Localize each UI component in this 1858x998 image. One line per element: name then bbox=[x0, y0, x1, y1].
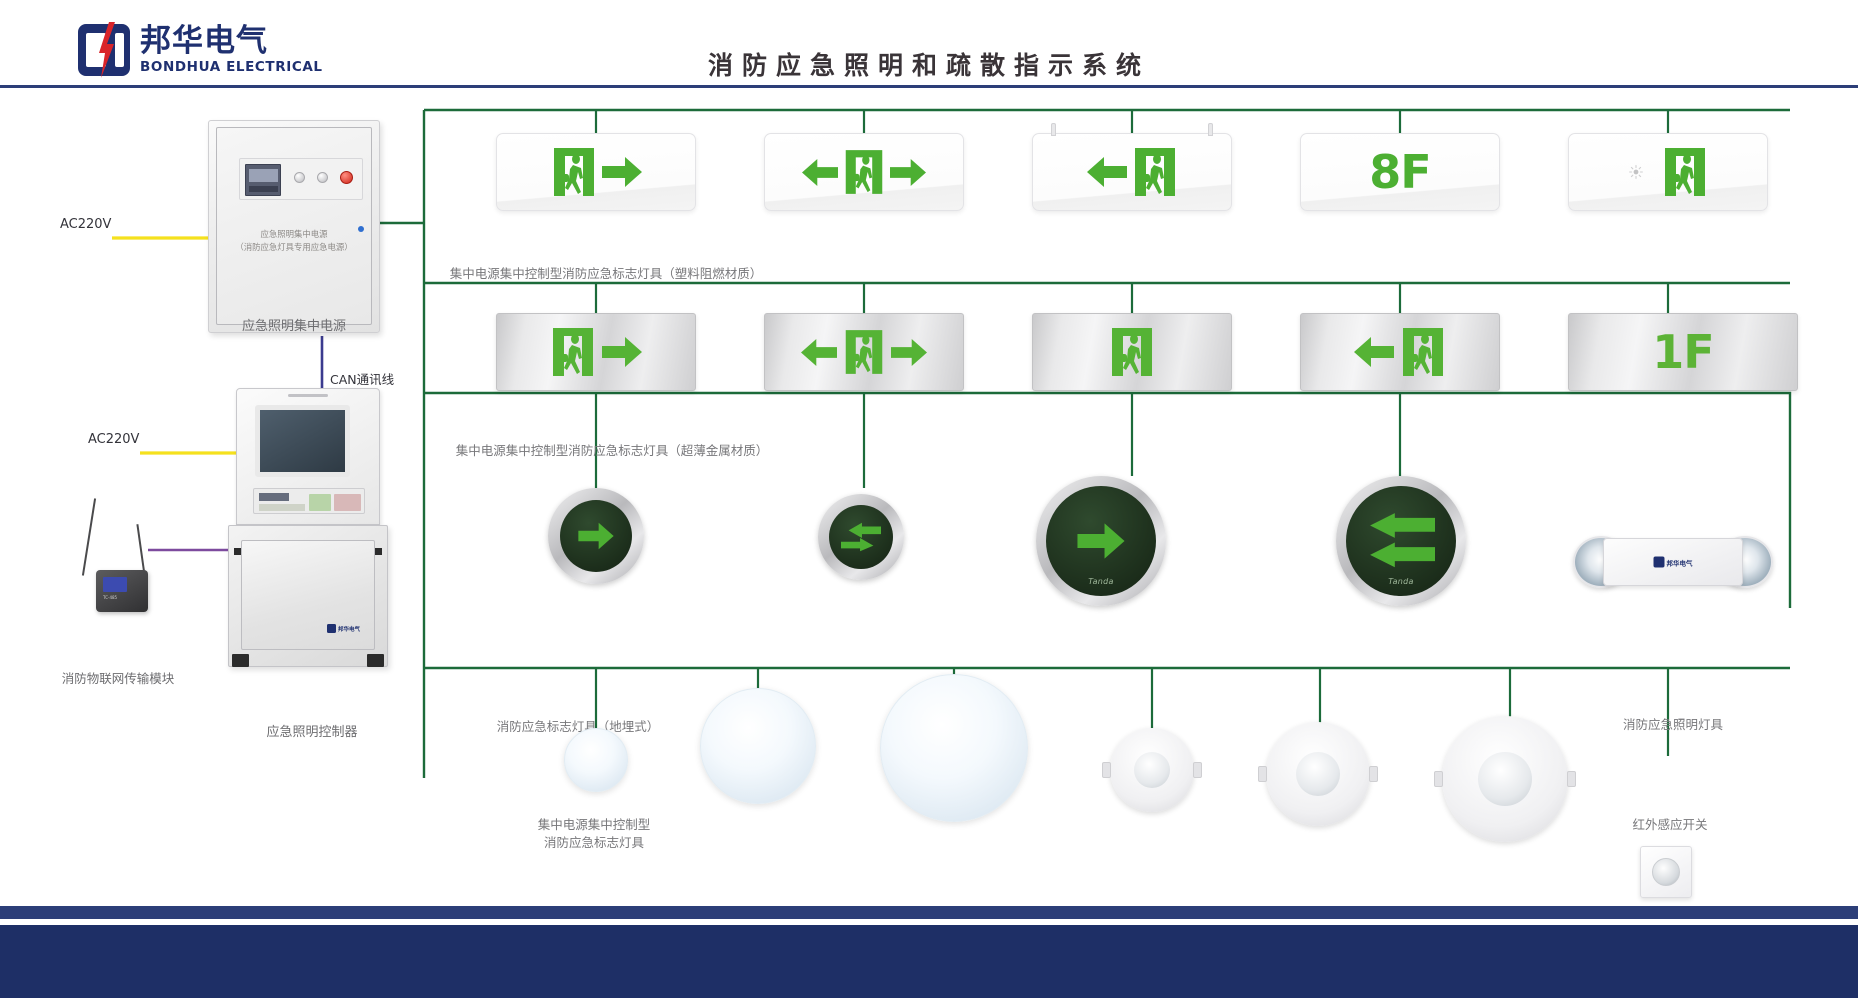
double-left-arrow-icon bbox=[1367, 513, 1435, 569]
antenna-icon bbox=[82, 498, 96, 575]
medium-dome-lamp[interactable] bbox=[700, 688, 816, 804]
running-man-exit-icon bbox=[550, 326, 596, 378]
running-man-exit-icon bbox=[843, 148, 885, 196]
metal-floor-indicator-sign-1f[interactable]: 1F bbox=[1568, 313, 1798, 391]
controller-display-screen[interactable] bbox=[255, 405, 350, 477]
emergency-lighting-central-power-cabinet[interactable]: 应急照明集中电源 （消防应急灯具专用应急电源） bbox=[208, 120, 380, 333]
fixture-brand-label: Tanda bbox=[1346, 577, 1456, 586]
right-arrow-icon bbox=[602, 335, 642, 369]
exit-sign-left-arrow-running-man[interactable] bbox=[1032, 133, 1232, 211]
plastic-sign-row-caption: 集中电源集中控制型消防应急标志灯具（塑料阻燃材质） bbox=[450, 265, 763, 283]
emergency-lighting-controller[interactable]: 邦华电气 bbox=[228, 388, 388, 681]
infrared-eye-icon bbox=[1652, 858, 1680, 886]
controller-logo-text: 邦华电气 bbox=[338, 625, 360, 633]
metal-sign-row-caption: 集中电源集中控制型消防应急标志灯具（超薄金属材质） bbox=[456, 442, 769, 460]
can-bus-label: CAN通讯线 bbox=[330, 371, 394, 389]
exit-sign-left-arrow-running-man-right-arrow[interactable] bbox=[764, 133, 964, 211]
footer-bar-bottom bbox=[0, 925, 1858, 998]
cabinet-lcd-display bbox=[245, 164, 281, 196]
ground-buried-light-right-arrow[interactable] bbox=[548, 488, 644, 584]
controller-keypad[interactable] bbox=[253, 488, 365, 514]
iot-module-caption: 消防物联网传输模块 bbox=[62, 670, 175, 688]
ground-buried-light-bidirectional[interactable] bbox=[818, 494, 904, 580]
ceiling-row-caption-line2: 消防应急标志灯具 bbox=[538, 834, 651, 852]
left-arrow-icon bbox=[1087, 155, 1127, 189]
ceiling-row-caption-line1: 集中电源集中控制型 bbox=[538, 816, 651, 834]
page-header: 邦华电气 BONDHUA ELECTRICAL 消防应急照明和疏散指示系统 bbox=[0, 0, 1858, 88]
medium-downlight[interactable] bbox=[1266, 722, 1370, 826]
running-man-exit-icon bbox=[843, 328, 885, 376]
small-ceiling-lamp[interactable] bbox=[564, 728, 628, 792]
metal-exit-sign-left-arrow-running-man[interactable] bbox=[1300, 313, 1500, 391]
iot-module-display bbox=[103, 577, 127, 592]
ceiling-sign-light-right-arrow[interactable]: Tanda bbox=[1036, 476, 1166, 606]
diagram-stage: AC220V AC220V CAN通讯线 应急照明集中电源 （消防应急灯具专用应… bbox=[0, 88, 1858, 906]
right-arrow-icon bbox=[891, 337, 927, 368]
cabinet-face-line2: （消防应急灯具专用应急电源） bbox=[217, 241, 371, 254]
running-man-exit-icon bbox=[551, 146, 597, 198]
footer-bar-top bbox=[0, 906, 1858, 919]
running-man-exit-icon bbox=[1662, 146, 1708, 198]
controller-door[interactable]: 邦华电气 bbox=[241, 540, 375, 650]
floor-indicator-sign-8f[interactable]: 8F bbox=[1300, 133, 1500, 211]
left-arrow-icon bbox=[1354, 335, 1394, 369]
cabinet-knob-2[interactable] bbox=[317, 172, 328, 183]
left-arrow-icon bbox=[802, 157, 838, 188]
mount-ear-left-icon bbox=[1051, 123, 1056, 136]
exit-sign-running-man-right-arrow[interactable] bbox=[496, 133, 696, 211]
iot-module-text: TC-485 bbox=[103, 595, 117, 600]
cabinet-emergency-button[interactable] bbox=[340, 171, 353, 184]
cabinet-face-line1: 应急照明集中电源 bbox=[217, 228, 371, 241]
right-arrow-icon bbox=[575, 521, 617, 551]
controller-upper-housing bbox=[236, 388, 380, 525]
right-arrow-icon bbox=[602, 155, 642, 189]
twin-light-caption: 消防应急照明灯具 bbox=[1623, 716, 1723, 734]
sensor-switch-caption: 红外感应开关 bbox=[1632, 816, 1707, 834]
left-arrow-icon bbox=[801, 337, 837, 368]
ac220v-label-cabinet: AC220V bbox=[60, 216, 111, 235]
sensor-icon bbox=[1629, 165, 1643, 179]
metal-exit-sign-running-man-right-arrow[interactable] bbox=[496, 313, 696, 391]
right-arrow-icon bbox=[890, 157, 926, 188]
ceiling-row-caption: 集中电源集中控制型 消防应急标志灯具 bbox=[538, 816, 651, 852]
ac220v-label-controller: AC220V bbox=[88, 431, 139, 450]
running-man-exit-icon bbox=[1400, 326, 1446, 378]
cabinet-knob-1[interactable] bbox=[294, 172, 305, 183]
controller-caption: 应急照明控制器 bbox=[266, 724, 357, 743]
controller-cabinet-body: 邦华电气 bbox=[228, 525, 388, 667]
infrared-sensor-switch[interactable] bbox=[1640, 846, 1692, 898]
large-downlight[interactable] bbox=[1442, 716, 1568, 842]
cabinet-face-text: 应急照明集中电源 （消防应急灯具专用应急电源） bbox=[217, 228, 371, 255]
running-man-exit-icon bbox=[1109, 326, 1155, 378]
metal-exit-sign-running-man[interactable] bbox=[1032, 313, 1232, 391]
right-arrow-icon bbox=[1065, 521, 1137, 561]
bidirectional-arrow-icon bbox=[841, 522, 881, 552]
fire-iot-transmission-module[interactable]: TC-485 bbox=[80, 498, 158, 618]
large-dome-lamp[interactable] bbox=[880, 674, 1028, 822]
exit-sign-sensor-running-man[interactable] bbox=[1568, 133, 1768, 211]
antenna-secondary-icon bbox=[136, 524, 145, 576]
running-man-exit-icon bbox=[1132, 146, 1178, 198]
small-downlight[interactable] bbox=[1110, 728, 1194, 812]
cabinet-status-led bbox=[358, 226, 364, 232]
power-cabinet-caption: 应急照明集中电源 bbox=[242, 318, 346, 337]
ceiling-sign-light-left-arrows[interactable]: Tanda bbox=[1336, 476, 1466, 606]
floor-number-label: 1F bbox=[1652, 325, 1713, 379]
metal-exit-sign-left-arrow-running-man-right-arrow[interactable] bbox=[764, 313, 964, 391]
fixture-brand-label: Tanda bbox=[1046, 577, 1156, 586]
mount-ear-right-icon bbox=[1208, 123, 1213, 136]
cabinet-control-panel[interactable] bbox=[239, 158, 363, 200]
floor-number-label: 8F bbox=[1369, 145, 1430, 199]
twin-light-brand-logo: 邦华电气 bbox=[1654, 557, 1693, 568]
controller-brand-logo: 邦华电气 bbox=[327, 624, 360, 633]
twin-head-emergency-light[interactable]: 邦华电气 bbox=[1573, 528, 1773, 603]
page-title: 消防应急照明和疏散指示系统 bbox=[0, 46, 1858, 82]
